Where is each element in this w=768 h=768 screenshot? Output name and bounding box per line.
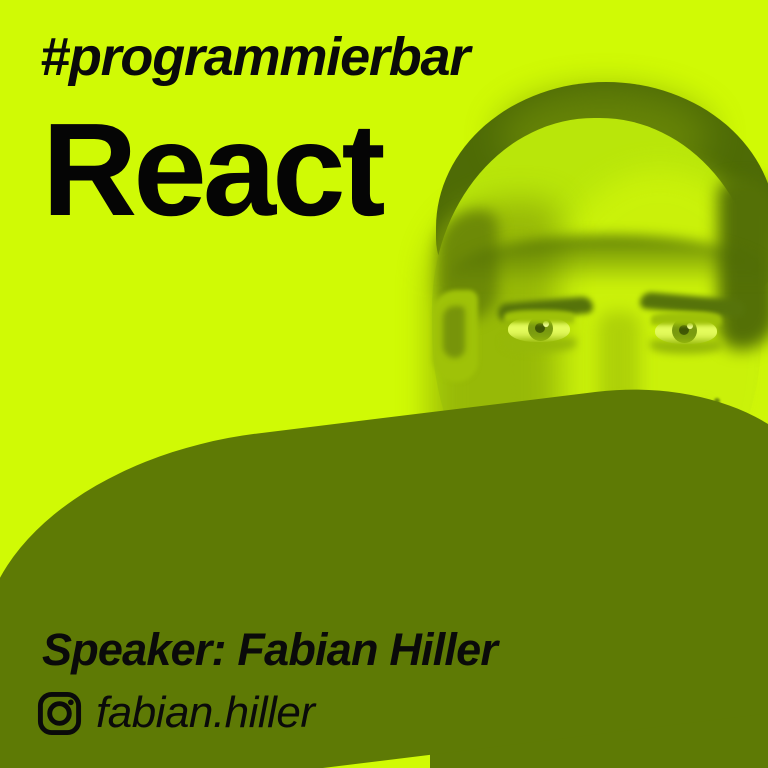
instagram-handle-row: fabian.hiller (36, 688, 315, 738)
episode-title: React (42, 104, 382, 236)
podcast-hashtag: #programmierbar (40, 26, 469, 88)
poster-text-layer: #programmierbar React Speaker: Fabian Hi… (0, 0, 768, 768)
speaker-name: Speaker: Fabian Hiller (42, 624, 497, 676)
podcast-episode-poster: #programmierbar React Speaker: Fabian Hi… (0, 0, 768, 768)
instagram-handle-text: fabian.hiller (96, 688, 315, 738)
instagram-icon (36, 690, 83, 737)
